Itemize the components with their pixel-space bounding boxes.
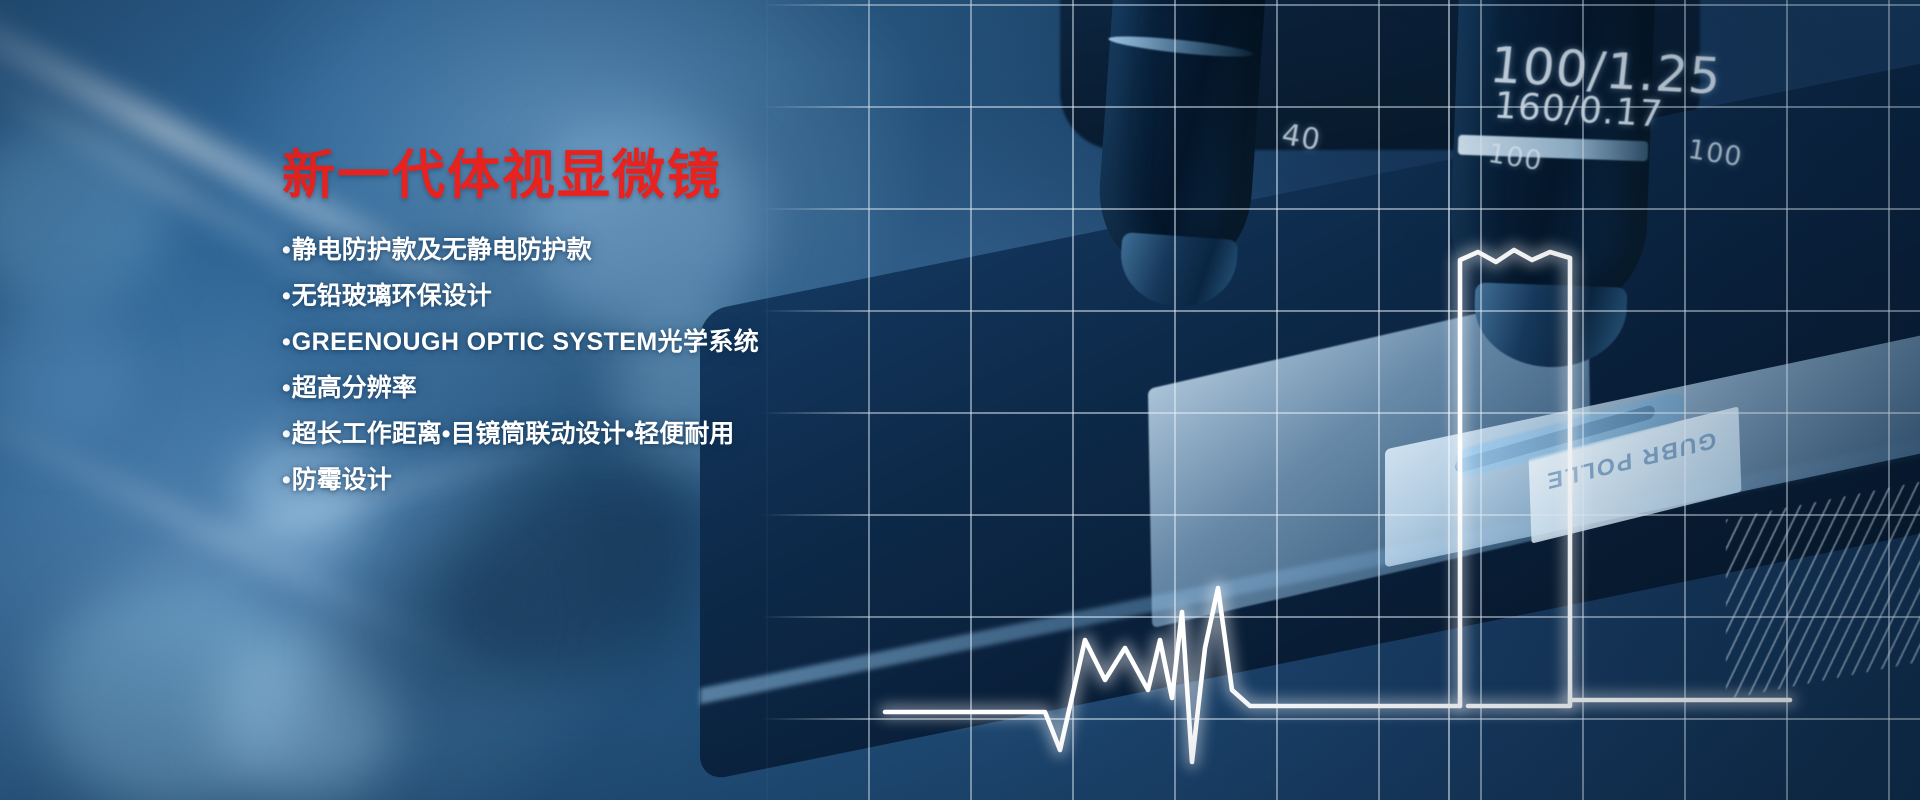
list-item-label: 防霉设计	[292, 466, 392, 494]
feature-list: •静电防护款及无静电防护款 •无铅玻璃环保设计 •GREENOUGH OPTIC…	[282, 238, 982, 493]
list-item: •防霉设计	[282, 468, 982, 493]
bullet-marker: •	[282, 282, 291, 310]
bullet-marker: •	[282, 420, 291, 448]
bullet-marker: •	[282, 374, 291, 402]
list-item-label: 超高分辨率	[292, 374, 417, 402]
banner-content: 新一代体视显微镜 •静电防护款及无静电防护款 •无铅玻璃环保设计 •GREENO…	[282, 148, 982, 514]
bullet-marker: •	[282, 328, 291, 356]
list-item: •无铅玻璃环保设计	[282, 284, 982, 309]
list-item: •静电防护款及无静电防护款	[282, 238, 982, 263]
page-title: 新一代体视显微镜	[282, 148, 982, 204]
bullet-marker: •	[282, 466, 291, 494]
hero-banner: GUBR POLLE 100/1.25 160/0.17 40 100 100 …	[0, 0, 1920, 800]
objective-engraving-left-mag: 40	[1279, 117, 1323, 157]
bullet-marker: •	[282, 236, 291, 264]
list-item-label: GREENOUGH OPTIC SYSTEM光学系统	[292, 328, 759, 356]
list-item-label: 静电防护款及无静电防护款	[292, 236, 592, 264]
list-item: •超高分辨率	[282, 376, 982, 401]
objective-engraving-tube-cover: 160/0.17	[1492, 86, 1665, 136]
list-item: •超长工作距离•目镜筒联动设计•轻便耐用	[282, 422, 982, 447]
list-item: •GREENOUGH OPTIC SYSTEM光学系统	[282, 330, 982, 355]
list-item-label: 无铅玻璃环保设计	[292, 282, 492, 310]
list-item-label: 超长工作距离•目镜筒联动设计•轻便耐用	[292, 420, 735, 448]
